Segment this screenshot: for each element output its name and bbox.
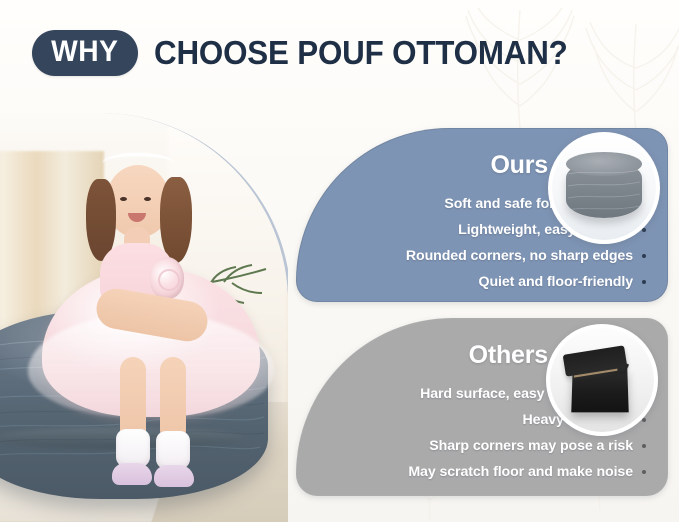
panel-ours: Ours Soft and safe for kids & pets Light… — [296, 128, 666, 300]
product-image-others — [546, 324, 658, 436]
infographic-canvas: WHY CHOOSE POUF OTTOMAN? — [0, 0, 679, 522]
header: WHY CHOOSE POUF OTTOMAN? — [0, 22, 679, 84]
bullet-dot — [642, 254, 646, 258]
bullet-text: Quiet and floor-friendly — [479, 274, 633, 290]
page-title: CHOOSE POUF OTTOMAN? — [154, 36, 568, 70]
product-image-ours-inner — [552, 136, 656, 240]
child-figure — [76, 117, 226, 417]
shoe-right — [154, 465, 194, 487]
lifestyle-photo — [0, 113, 288, 522]
product-image-others-inner — [550, 328, 654, 432]
sock-left — [116, 429, 150, 467]
eye-left — [120, 197, 127, 201]
bullet-text: May scratch floor and make noise — [408, 464, 633, 480]
panel-others: Others Hard surface, easy to bump into H… — [296, 318, 666, 494]
lifestyle-photo-frame — [0, 113, 288, 522]
product-image-ours — [548, 132, 660, 244]
eye-right — [144, 197, 151, 201]
bullet-dot — [642, 444, 646, 448]
pouf-fabric-texture — [566, 160, 642, 218]
hair-strand-right — [160, 177, 192, 263]
dress-rose-applique — [150, 257, 184, 299]
list-item: May scratch floor and make noise — [388, 460, 646, 484]
lifestyle-photo-image — [0, 113, 288, 522]
list-item: Quiet and floor-friendly — [388, 270, 646, 294]
panel-ours-title: Ours — [490, 152, 548, 178]
bullet-dot — [642, 418, 646, 422]
panel-others-title: Others — [469, 342, 548, 368]
why-badge-label: WHY — [51, 37, 118, 67]
list-item: Rounded corners, no sharp edges — [388, 244, 646, 268]
bullet-text: Sharp corners may pose a risk — [429, 438, 633, 454]
headband — [102, 153, 174, 174]
bullet-dot — [642, 470, 646, 474]
shoe-left — [112, 463, 152, 485]
bullet-dot — [642, 228, 646, 232]
list-item: Sharp corners may pose a risk — [388, 434, 646, 458]
bullet-dot — [642, 280, 646, 284]
why-badge: WHY — [32, 30, 138, 76]
sock-right — [156, 431, 190, 469]
bullet-text: Rounded corners, no sharp edges — [406, 248, 633, 264]
